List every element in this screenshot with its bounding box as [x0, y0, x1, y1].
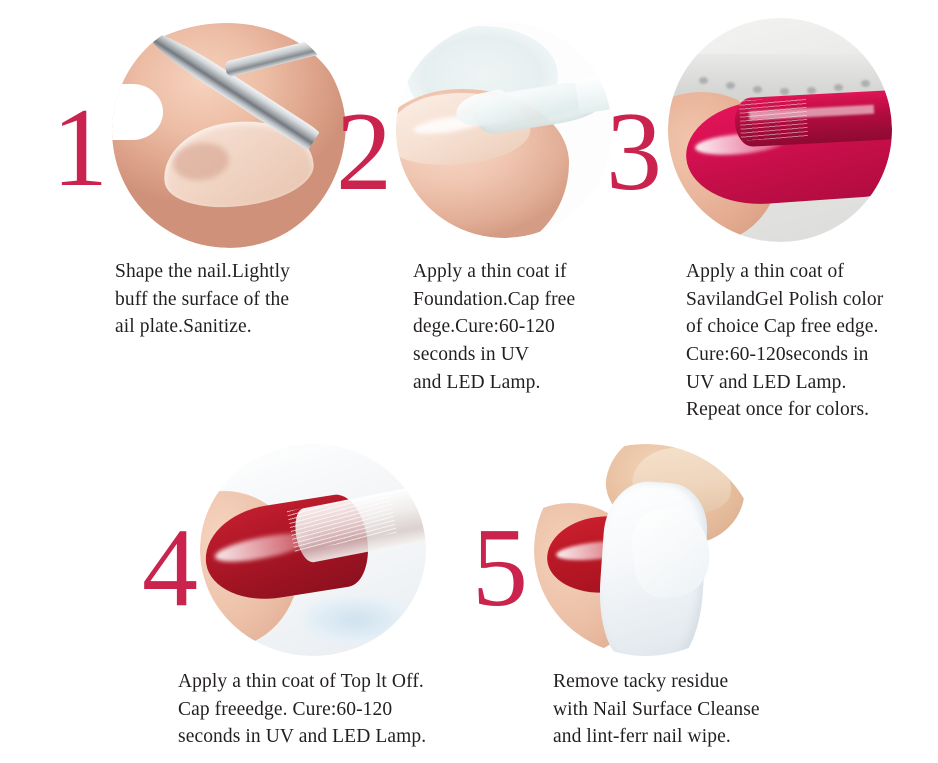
step-5-caption: Remove tacky residue with Nail Surface C…	[553, 668, 813, 751]
gel-polish-steps-infographic: 1 Shape the nail.Lightly buff the surfac…	[0, 0, 938, 763]
step-2-photo-apply-foundation-coat	[396, 22, 612, 238]
step-4-photo-apply-top-coat	[200, 444, 426, 656]
step-number-5: 5	[472, 512, 528, 624]
step-3-caption: Apply a thin coat of SavilandGel Polish …	[686, 258, 921, 424]
step-number-3: 3	[606, 96, 662, 208]
step-number-1: 1	[52, 92, 108, 204]
step-2-caption: Apply a thin coat if Foundation.Cap free…	[413, 258, 638, 396]
step-4-caption: Apply a thin coat of Top lt Off. Cap fre…	[178, 668, 508, 751]
step-1-caption: Shape the nail.Lightly buff the surface …	[115, 258, 330, 341]
step-1-photo-shape-and-buff-nail	[112, 14, 346, 248]
step-number-2: 2	[336, 96, 392, 208]
step-number-4: 4	[142, 512, 198, 624]
step-3-photo-apply-color-gel-polish	[668, 18, 892, 242]
step-5-photo-remove-tacky-residue	[534, 444, 758, 656]
